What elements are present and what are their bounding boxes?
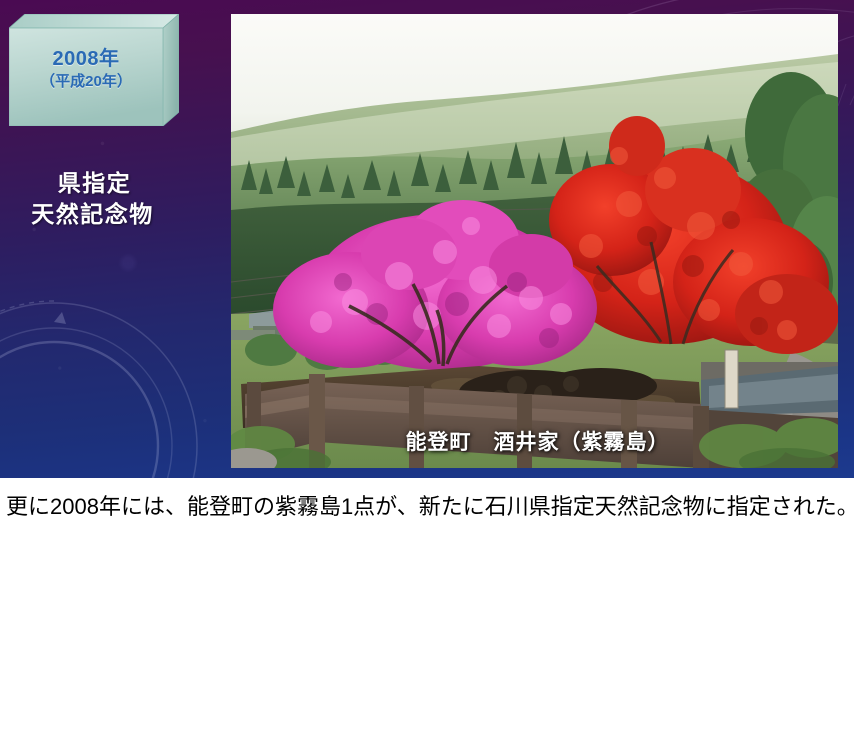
azalea-photo-graphic bbox=[231, 14, 838, 468]
body-paragraph: 更に2008年には、能登町の紫霧島1点が、新たに石川県指定天然記念物に指定された… bbox=[6, 492, 848, 522]
designation-label: 県指定 天然記念物 bbox=[0, 168, 185, 229]
presentation-slide: 2008年 （平成20年） 県指定 天然記念物 bbox=[0, 0, 854, 478]
year-callout-box: 2008年 （平成20年） bbox=[9, 14, 179, 126]
designation-label-line-2: 天然記念物 bbox=[0, 199, 185, 230]
slide-page: 2008年 （平成20年） 県指定 天然記念物 bbox=[0, 0, 854, 750]
designation-label-line-1: 県指定 bbox=[0, 168, 185, 199]
year-box-line-2: （平成20年） bbox=[40, 73, 132, 90]
azalea-photo: 能登町 酒井家（紫霧島） bbox=[231, 14, 838, 468]
year-box-line-1: 2008年 bbox=[53, 48, 120, 71]
decorative-arc-rings-icon bbox=[0, 296, 204, 478]
year-box-text: 2008年 （平成20年） bbox=[9, 26, 163, 112]
photo-caption: 能登町 酒井家（紫霧島） bbox=[231, 426, 838, 456]
